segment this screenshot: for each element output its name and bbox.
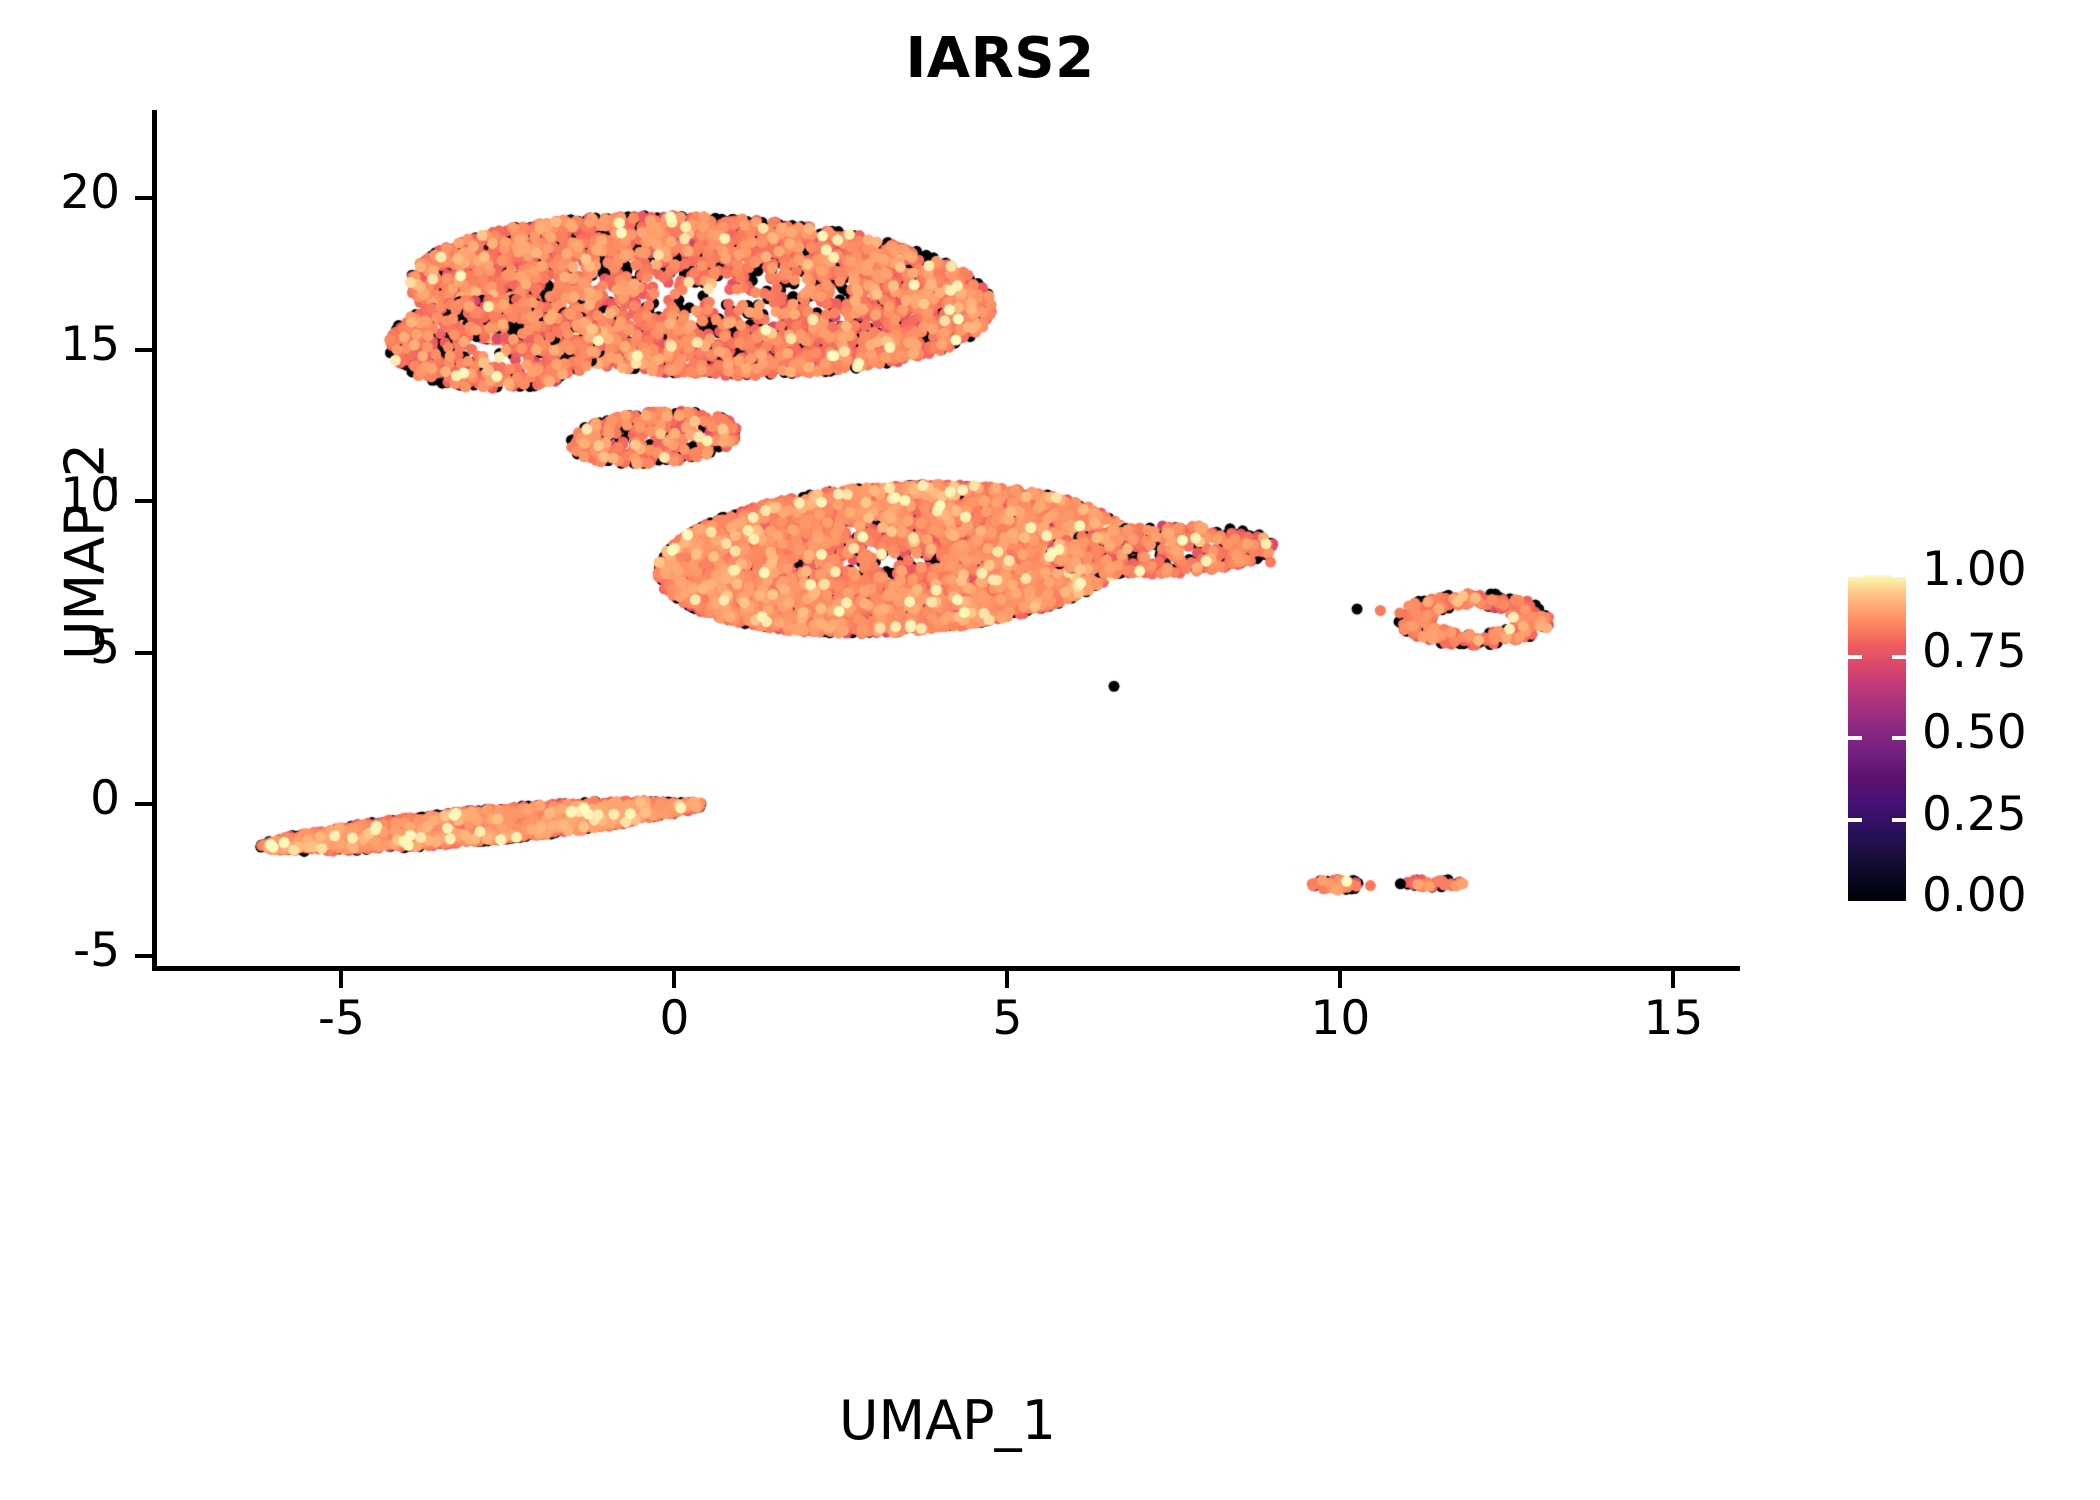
y-tick-mark: [135, 348, 153, 352]
x-tick-mark: [1005, 971, 1009, 988]
y-axis-label: UMAP_2: [54, 102, 117, 1002]
colorbar-tick-label: 0.00: [1922, 868, 2100, 923]
colorbar-tick-mark: [1848, 573, 1862, 577]
y-tick-mark: [135, 802, 153, 806]
colorbar-tick-mark: [1892, 573, 1906, 577]
y-tick-mark: [135, 651, 153, 655]
x-tick-label: 10: [1270, 991, 1410, 1046]
y-tick-mark: [135, 499, 153, 503]
x-tick-mark: [1338, 971, 1342, 988]
y-axis-spine: [152, 110, 157, 971]
colorbar-tick-mark: [1848, 736, 1862, 740]
x-tick-label: 5: [937, 991, 1077, 1046]
y-tick-mark: [135, 196, 153, 200]
x-tick-label: 15: [1603, 991, 1743, 1046]
x-tick-mark: [672, 971, 676, 988]
colorbar: 0.000.250.500.751.00: [1848, 575, 2088, 905]
scatter-plot-canvas: [155, 150, 1740, 968]
colorbar-tick-mark: [1892, 736, 1906, 740]
page-title: IARS2: [0, 26, 2000, 91]
y-tick-mark: [135, 954, 153, 958]
colorbar-tick-label: 1.00: [1922, 542, 2100, 597]
colorbar-tick-label: 0.50: [1922, 705, 2100, 760]
colorbar-tick-mark: [1892, 655, 1906, 659]
plot-area: [155, 150, 1740, 968]
x-tick-mark: [339, 971, 343, 988]
colorbar-tick-mark: [1848, 818, 1862, 822]
colorbar-tick-mark: [1848, 655, 1862, 659]
x-tick-label: 0: [604, 991, 744, 1046]
colorbar-tick-label: 0.25: [1922, 787, 2100, 842]
colorbar-tick-mark: [1892, 818, 1906, 822]
x-tick-label: -5: [271, 991, 411, 1046]
umap-feature-plot: IARS2 -5051015 -505101520 UMAP_1 UMAP_2 …: [0, 0, 2100, 1500]
x-axis-label: UMAP_1: [155, 1389, 1740, 1452]
colorbar-tick-label: 0.75: [1922, 624, 2100, 679]
x-tick-mark: [1671, 971, 1675, 988]
x-axis-spine: [155, 966, 1740, 971]
